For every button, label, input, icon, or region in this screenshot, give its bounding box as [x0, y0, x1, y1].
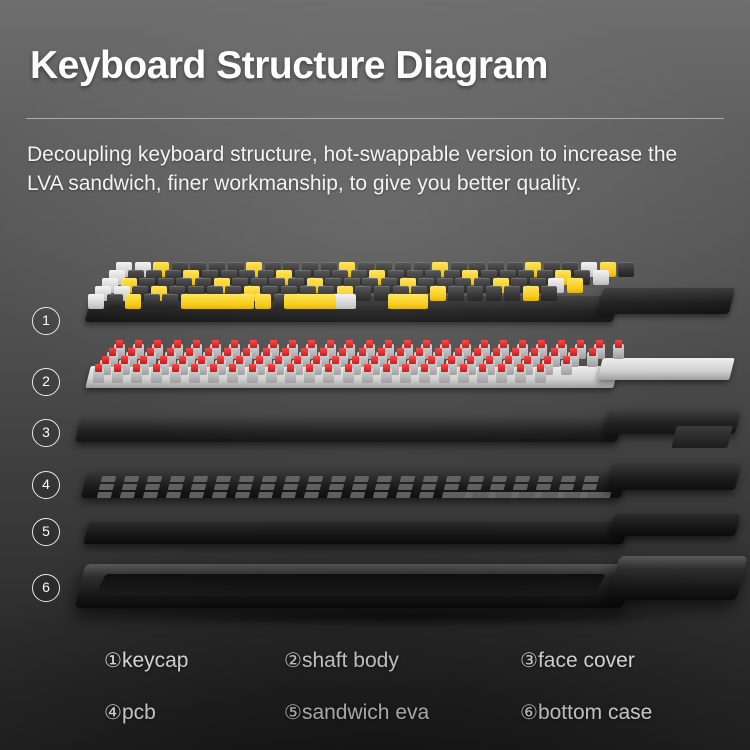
legend-marker-2: ② [284, 650, 302, 672]
eva-right [609, 514, 740, 536]
legend-label-1: keycap [122, 649, 189, 672]
legend-marker-1: ① [104, 650, 122, 672]
legend: ①keycap ②shaft body ③face cover ④pcb ⑤sa… [0, 636, 750, 750]
legend-label-6: bottom case [538, 701, 652, 724]
legend-marker-5: ⑤ [284, 702, 302, 724]
eva-left [83, 522, 628, 544]
legend-item-sandwich-eva: ⑤sandwich eva [284, 700, 429, 725]
legend-label-4: pcb [122, 701, 156, 724]
layer-pcb [70, 460, 738, 510]
legend-item-shaft-body: ②shaft body [284, 648, 399, 673]
legend-label-3: face cover [538, 649, 635, 672]
face-cover-left [75, 418, 623, 442]
legend-marker-6: ⑥ [520, 702, 538, 724]
layer-shaft-body [88, 338, 732, 400]
legend-item-bottom-case: ⑥bottom case [520, 700, 652, 725]
callout-1: 1 [32, 307, 60, 335]
callout-6: 6 [32, 574, 60, 602]
bottom-case-shadow [106, 608, 706, 626]
legend-marker-4: ④ [104, 702, 122, 724]
callout-5: 5 [32, 518, 60, 546]
callout-4: 4 [32, 471, 60, 499]
layer-bottom-case [66, 556, 742, 636]
layer-sandwich-eva [70, 512, 738, 558]
legend-marker-3: ③ [520, 650, 538, 672]
legend-label-2: shaft body [302, 649, 399, 672]
bottom-case-cavity [95, 574, 606, 596]
keyboard-structure-diagram-page: Keyboard Structure Diagram Decoupling ke… [0, 0, 750, 750]
legend-item-keycap: ①keycap [104, 648, 188, 673]
legend-label-5: sandwich eva [302, 701, 429, 724]
layer-face-cover [70, 404, 738, 456]
face-cover-tab [671, 426, 732, 448]
callout-2: 2 [32, 368, 60, 396]
keycap-slab-right [597, 288, 735, 314]
legend-item-pcb: ④pcb [104, 700, 156, 725]
pcb-right [607, 464, 741, 490]
bottom-case-right [609, 556, 748, 600]
layer-keycap [88, 262, 732, 330]
pcb-left [81, 472, 627, 498]
callout-3: 3 [32, 419, 60, 447]
switch-plate-right [597, 358, 734, 380]
legend-item-face-cover: ③face cover [520, 648, 635, 673]
bottom-case-left [75, 564, 634, 608]
